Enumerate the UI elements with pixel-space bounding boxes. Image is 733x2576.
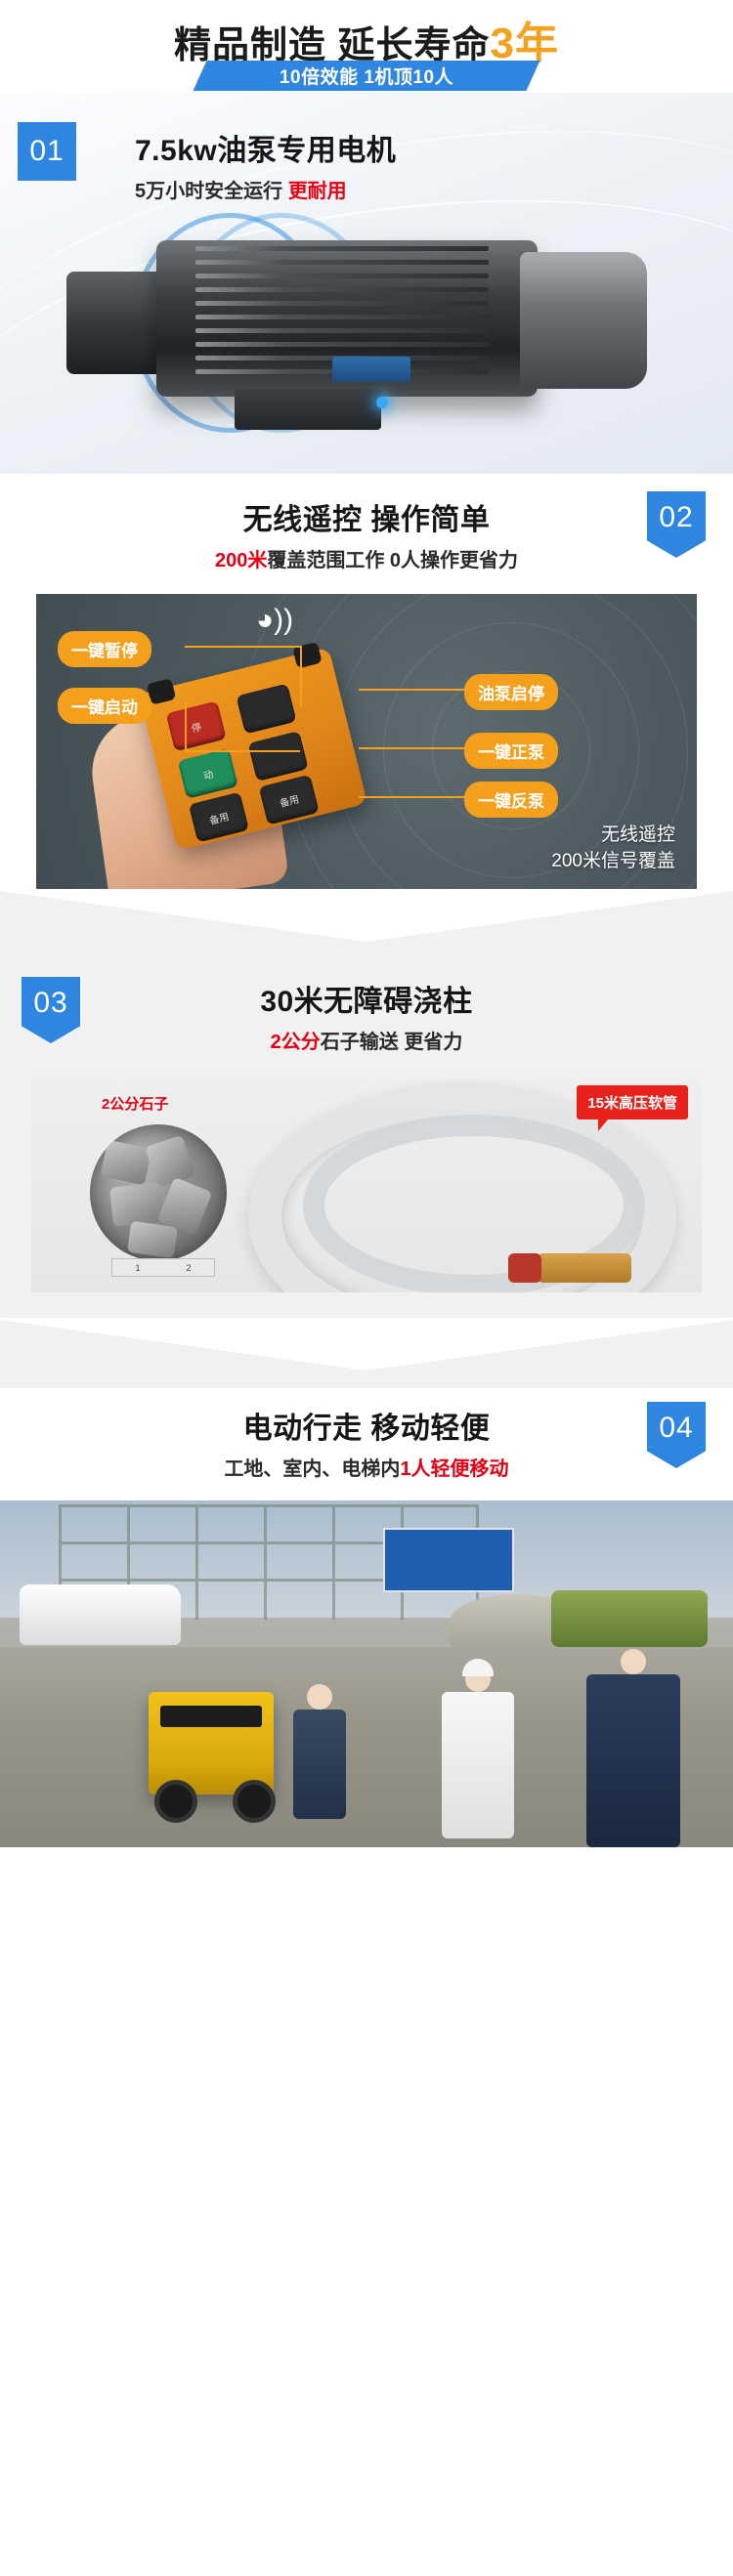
hero-title-accent: 3年: [491, 20, 559, 67]
callout-lead-start-v: [185, 703, 187, 752]
section-03-title: 30米无障碍浇柱: [0, 977, 733, 1020]
wifi-signal-icon: ◕)): [256, 606, 293, 635]
section-03-header: 03 30米无障碍浇柱 2公分石子输送 更省力: [0, 977, 733, 1054]
motor-nameplate: [332, 357, 410, 382]
section-03-subtitle-highlight: 2公分: [271, 1032, 321, 1053]
section-04-title: 电动行走 移动轻便: [0, 1404, 733, 1447]
hero-header: 精品制造 延长寿命3年 10倍效能 1机顶10人: [0, 0, 733, 93]
section-01-number-badge: 01: [18, 122, 76, 181]
section-01-titles: 7.5kw油泵专用电机 5万小时安全运行 更耐用: [135, 122, 396, 203]
motor-nose-cap: [520, 252, 647, 389]
remote-control-photo: ◕)) 停 动 备用 备用 一键暂停 一键启动 油泵启停 一键正泵 一键: [36, 594, 697, 889]
ruler-tick-1: 1: [135, 1263, 140, 1273]
section-02-subtitle-normal: 覆盖范围工作 0人操作更省力: [267, 550, 518, 571]
section-04-titles: 电动行走 移动轻便 工地、室内、电梯内1人轻便移动: [0, 1404, 733, 1481]
hero-title-main: 精品制造 延长寿命: [174, 25, 491, 66]
callout-pump-toggle: 油泵启停: [464, 674, 558, 710]
section-02-title: 无线遥控 操作简单: [0, 495, 733, 538]
hose-photo: 2公分石子 1 2 15米高压软管: [31, 1077, 702, 1292]
callout-lead-pause: [185, 646, 302, 648]
section-02-titles: 无线遥控 操作简单 200米覆盖范围工作 0人操作更省力: [0, 495, 733, 572]
ruler-scale: 1 2: [111, 1258, 215, 1277]
remote-button-forward-pump[interactable]: [248, 731, 309, 781]
section-02-subtitle-highlight: 200米: [215, 550, 267, 571]
remote-button-start[interactable]: 动: [178, 748, 238, 799]
remote-caption-line-1: 无线遥控: [551, 822, 675, 849]
white-van: [20, 1584, 181, 1645]
callout-lead-pump-toggle: [359, 689, 466, 691]
motor-led-glow-icon: [376, 397, 388, 408]
ruler-tick-2: 2: [186, 1263, 191, 1273]
machine-control-panel: [160, 1706, 262, 1727]
callout-start: 一键启动: [58, 688, 151, 724]
stone-size-label: 2公分石子: [102, 1093, 168, 1114]
remote-caption-line-2: 200米信号覆盖: [551, 848, 675, 875]
construction-site-photo: [0, 1500, 733, 1847]
section-01-title: 7.5kw油泵专用电机: [135, 126, 396, 169]
site-signboard: [383, 1528, 514, 1592]
section-01-number: 01: [29, 135, 64, 168]
section-02-header: 无线遥控 操作简单 200米覆盖范围工作 0人操作更省力 02: [0, 495, 733, 572]
remote-button-stop[interactable]: 停: [166, 700, 227, 751]
callout-lead-start: [185, 750, 300, 752]
machine-wheel-left: [154, 1780, 197, 1823]
callout-reverse-pump: 一键反泵: [464, 781, 558, 818]
section-01-motor: 01 7.5kw油泵专用电机 5万小时安全运行 更耐用: [0, 93, 733, 474]
remote-button-pump-toggle[interactable]: [236, 684, 296, 735]
remote-photo-caption: 无线遥控 200米信号覆盖: [551, 822, 675, 875]
worker-foreground: [586, 1674, 680, 1847]
section-03-subtitle: 2公分石子输送 更省力: [0, 1026, 733, 1054]
motor-base-foot: [235, 389, 381, 430]
section-03-titles: 30米无障碍浇柱 2公分石子输送 更省力: [0, 977, 733, 1054]
motor-illustration: [39, 195, 694, 464]
section-04-subtitle-highlight: 1人轻便移动: [400, 1458, 508, 1480]
hero-ribbon-label: 10倍效能 1机顶10人: [280, 63, 453, 89]
worker-head-3: [621, 1649, 646, 1674]
callout-lead-reverse: [359, 796, 466, 798]
section-04-subtitle-normal: 工地、室内、电梯内: [224, 1458, 400, 1480]
callout-lead-forward: [359, 747, 466, 749]
worker-in-white-shirt: [442, 1692, 514, 1838]
remote-button-spare-1[interactable]: 备用: [189, 792, 249, 843]
chevron-shape-2: [0, 1318, 733, 1388]
section-04-subtitle: 工地、室内、电梯内1人轻便移动: [0, 1453, 733, 1481]
hose-length-badge: 15米高压软管: [577, 1085, 688, 1119]
section-03-hose: 03 30米无障碍浇柱 2公分石子输送 更省力 2公分石子 1 2: [0, 959, 733, 1318]
section-02-number: 02: [659, 501, 693, 534]
gravel-stones-image: [90, 1124, 227, 1261]
green-truck: [551, 1590, 708, 1647]
section-04-mobility: 电动行走 移动轻便 工地、室内、电梯内1人轻便移动 04: [0, 1388, 733, 1847]
section-04-header: 电动行走 移动轻便 工地、室内、电梯内1人轻便移动 04: [0, 1404, 733, 1481]
worker-operating-machine: [293, 1710, 346, 1819]
section-02-subtitle: 200米覆盖范围工作 0人操作更省力: [0, 544, 733, 572]
section-03-number: 03: [33, 987, 67, 1020]
machine-wheel-right: [233, 1780, 276, 1823]
callout-forward-pump: 一键正泵: [464, 733, 558, 769]
chevron-shape-1: [0, 889, 733, 959]
callout-pause: 一键暂停: [58, 631, 151, 667]
section-01-header: 01 7.5kw油泵专用电机 5万小时安全运行 更耐用: [18, 122, 396, 203]
callout-lead-pause-v: [300, 646, 302, 706]
section-03-subtitle-normal: 石子输送 更省力: [321, 1032, 463, 1053]
product-detail-page: 精品制造 延长寿命3年 10倍效能 1机顶10人 01 7.5kw油泵专用电机 …: [0, 0, 733, 1847]
hose-coupling-end: [538, 1253, 631, 1283]
chevron-divider-1: [0, 889, 733, 959]
hero-ribbon: 10倍效能 1机顶10人: [194, 61, 540, 91]
hose-coupling-red-collar: [508, 1253, 541, 1283]
worker-head-1: [307, 1684, 332, 1710]
section-04-number: 04: [659, 1412, 693, 1445]
section-02-remote: 无线遥控 操作简单 200米覆盖范围工作 0人操作更省力 02 ◕)): [0, 474, 733, 889]
remote-button-spare-2[interactable]: 备用: [259, 775, 320, 825]
chevron-divider-2: [0, 1318, 733, 1388]
